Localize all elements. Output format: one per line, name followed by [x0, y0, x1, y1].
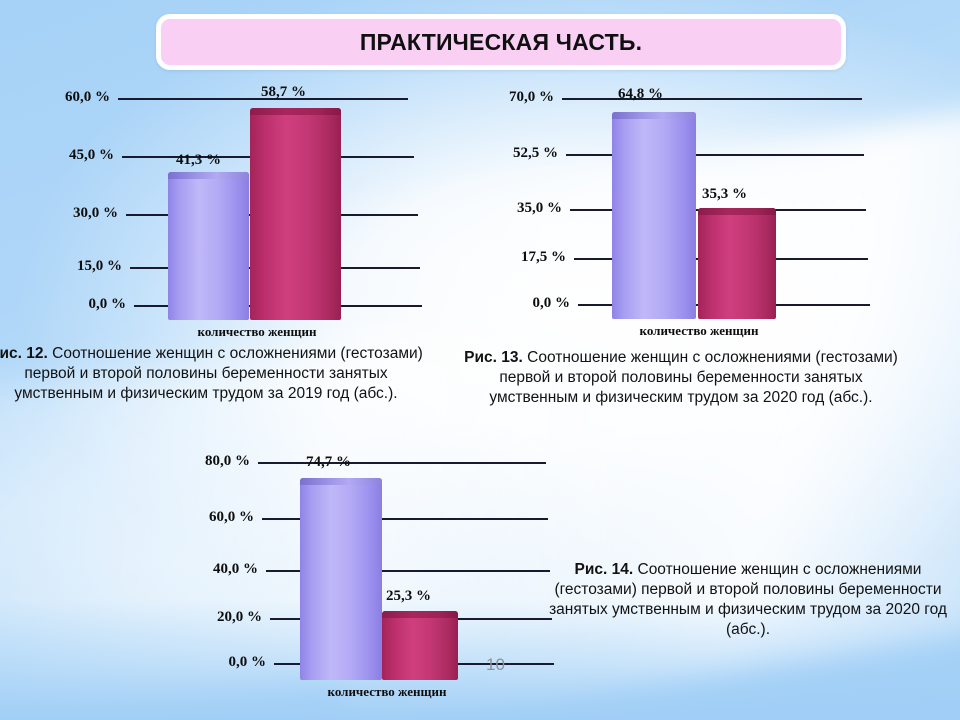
- bar-value-mental: 41,3 %: [176, 152, 221, 169]
- bar-top-face: [168, 172, 249, 179]
- chart-fig-13-plot: 70,0 % 52,5 % 35,0 % 17,5 % 0,0 % 64,8 %…: [462, 84, 862, 334]
- bar-value-mental: 64,8 %: [618, 86, 663, 103]
- caption-fig-12-text: Соотношение женщин с осложнениями (гесто…: [14, 345, 422, 402]
- bar-mental-labour: [612, 112, 696, 319]
- chart-fig-12-plot: 60,0 % 45,0 % 30,0 % 15,0 % 0,0 % 41,3 %…: [24, 84, 424, 334]
- bar-top-face: [382, 611, 458, 618]
- caption-fig-14-prefix: Рис. 14.: [575, 561, 634, 578]
- ytick-label-4: 60,0 %: [24, 89, 110, 106]
- bar-mental-labour: [300, 478, 382, 680]
- bar-top-face: [698, 208, 776, 215]
- ytick-label-0: 0,0 %: [478, 295, 570, 312]
- slide-title-banner: ПРАКТИЧЕСКАЯ ЧАСТЬ.: [156, 14, 846, 70]
- chart-fig-14-plot: 80,0 % 60,0 % 40,0 % 20,0 % 0,0 % 74,7 %…: [170, 448, 570, 698]
- bar-physical-labour: [382, 611, 458, 680]
- chart-fig-14: 80,0 % 60,0 % 40,0 % 20,0 % 0,0 % 74,7 %…: [170, 448, 570, 698]
- caption-fig-14: Рис. 14. Соотношение женщин с осложнения…: [548, 560, 948, 640]
- ytick-label-0: 0,0 %: [40, 296, 126, 313]
- bar-value-physical: 25,3 %: [386, 588, 431, 605]
- caption-fig-13-prefix: Рис. 13.: [464, 349, 523, 366]
- ytick-label-1: 15,0 %: [36, 258, 122, 275]
- ytick-label-2: 40,0 %: [178, 561, 258, 578]
- gridline-80: [258, 462, 546, 464]
- caption-fig-13: Рис. 13. Соотношение женщин с осложнения…: [456, 348, 906, 408]
- chart-fig-13: 70,0 % 52,5 % 35,0 % 17,5 % 0,0 % 64,8 %…: [462, 84, 862, 334]
- slide: ПРАКТИЧЕСКАЯ ЧАСТЬ. 60,0 % 45,0 % 30,0 %…: [0, 0, 960, 720]
- slide-title: ПРАКТИЧЕСКАЯ ЧАСТЬ.: [360, 29, 642, 56]
- ytick-label-2: 30,0 %: [32, 205, 118, 222]
- chart-fig-14-xaxis-label: количество женщин: [294, 684, 480, 700]
- chart-fig-13-xaxis-label: количество женщин: [606, 323, 792, 339]
- bar-mental-labour: [168, 172, 249, 320]
- bar-physical-labour: [250, 108, 341, 320]
- caption-fig-13-text: Соотношение женщин с осложнениями (гесто…: [489, 349, 897, 406]
- ytick-label-1: 20,0 %: [182, 609, 262, 626]
- gridline-52-5: [566, 154, 864, 156]
- bar-physical-labour: [698, 208, 776, 319]
- gridline-70: [562, 98, 862, 100]
- ytick-label-3: 45,0 %: [28, 147, 114, 164]
- caption-fig-12: Рис. 12. Соотношение женщин с осложнения…: [0, 344, 426, 404]
- ytick-label-1: 17,5 %: [474, 249, 566, 266]
- ytick-label-3: 52,5 %: [466, 145, 558, 162]
- chart-fig-12: 60,0 % 45,0 % 30,0 % 15,0 % 0,0 % 41,3 %…: [24, 84, 424, 334]
- ytick-label-3: 60,0 %: [174, 509, 254, 526]
- bar-value-physical: 58,7 %: [261, 84, 306, 101]
- bar-value-physical: 35,3 %: [702, 186, 747, 203]
- ytick-label-4: 80,0 %: [170, 453, 250, 470]
- chart-fig-12-xaxis-label: количество женщин: [164, 324, 350, 340]
- caption-fig-12-prefix: Рис. 12.: [0, 345, 48, 362]
- page-number: 10: [486, 655, 505, 675]
- ytick-label-4: 70,0 %: [462, 89, 554, 106]
- bar-top-face: [250, 108, 341, 115]
- bar-value-mental: 74,7 %: [306, 454, 351, 471]
- ytick-label-0: 0,0 %: [186, 654, 266, 671]
- bar-top-face: [612, 112, 696, 119]
- ytick-label-2: 35,0 %: [470, 200, 562, 217]
- bar-top-face: [300, 478, 382, 485]
